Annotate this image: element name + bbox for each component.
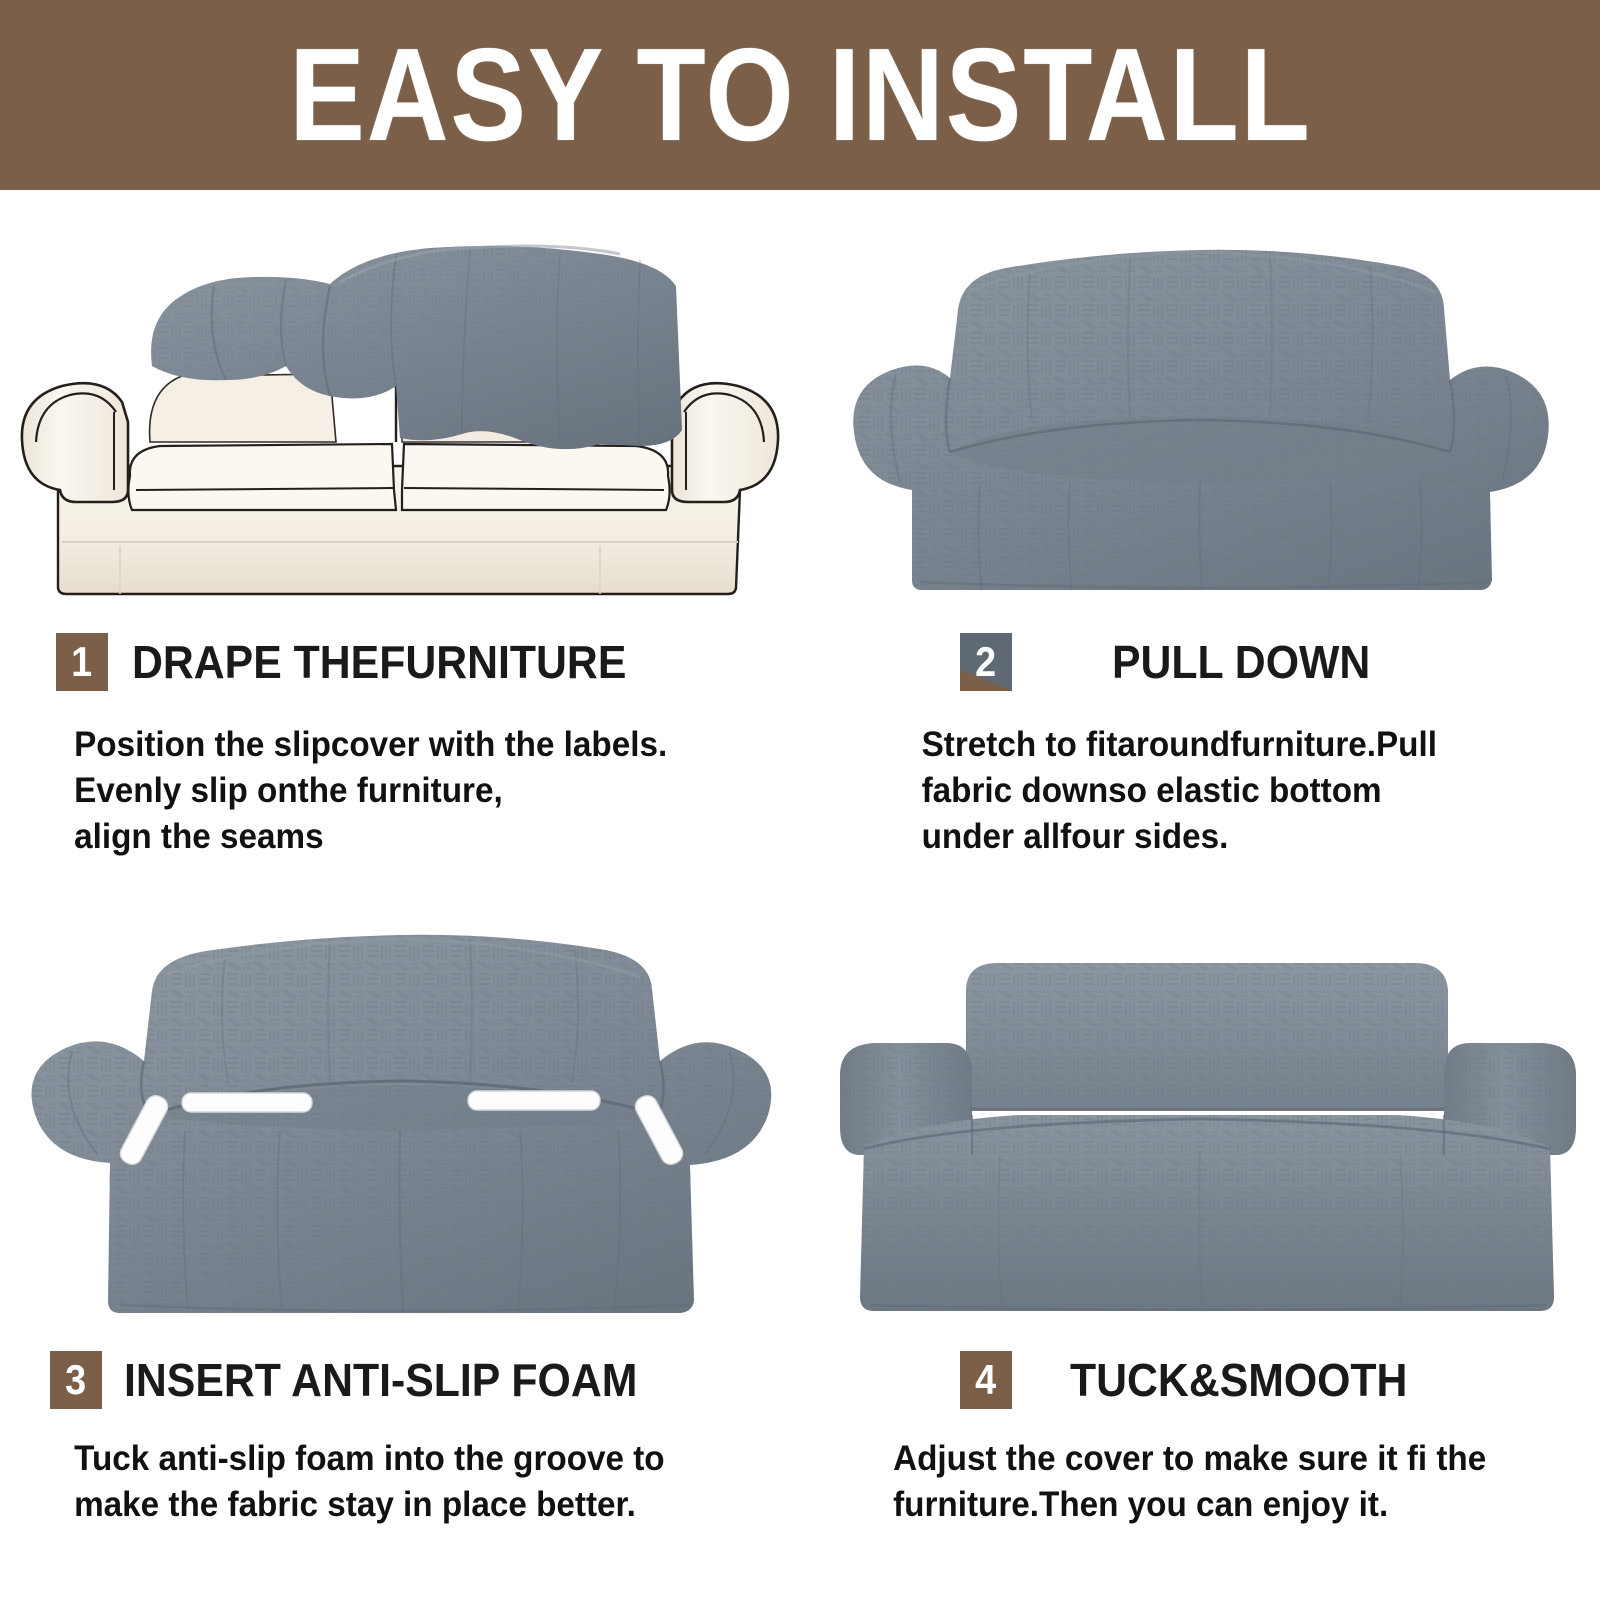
header-banner: EASY TO INSTALL xyxy=(0,0,1600,190)
step-2-title: PULL DOWN xyxy=(1112,639,1370,685)
step-card-1: 1 DRAPE THEFURNITURE Position the slipco… xyxy=(0,190,800,895)
step-4-title: TUCK&SMOOTH xyxy=(1070,1357,1407,1403)
step-4-caption: 4 TUCK&SMOOTH Adjust the cover to make s… xyxy=(800,1350,1600,1528)
step-3-badge: 3 xyxy=(50,1351,102,1409)
step-1-heading: 1 DRAPE THEFURNITURE xyxy=(0,632,800,692)
step-1-figure xyxy=(0,190,800,630)
step-2-badge: 2 xyxy=(960,633,1012,691)
sofa-finished-smooth-illustration xyxy=(800,915,1600,1340)
sofa-draped-with-cover-illustration xyxy=(0,190,800,630)
step-1-caption: 1 DRAPE THEFURNITURE Position the slipco… xyxy=(0,632,800,861)
sofa-with-foam-strips-illustration xyxy=(0,915,800,1340)
step-3-caption: 3 INSERT ANTI-SLIP FOAM Tuck anti-slip f… xyxy=(0,1350,800,1528)
step-4-heading: 4 TUCK&SMOOTH xyxy=(800,1350,1600,1410)
step-card-3: 3 INSERT ANTI-SLIP FOAM Tuck anti-slip f… xyxy=(0,895,800,1600)
step-1-number: 1 xyxy=(71,641,92,683)
step-1-title: DRAPE THEFURNITURE xyxy=(132,639,626,685)
step-2-figure xyxy=(800,190,1600,630)
step-3-description: Tuck anti-slip foam into the groove to m… xyxy=(0,1410,760,1528)
step-3-number: 3 xyxy=(65,1359,86,1401)
step-card-2: 2 PULL DOWN Stretch to fitaroundfurnitur… xyxy=(800,190,1600,895)
step-4-badge: 4 xyxy=(960,1351,1012,1409)
step-card-4: 4 TUCK&SMOOTH Adjust the cover to make s… xyxy=(800,895,1600,1600)
step-1-badge: 1 xyxy=(56,633,108,691)
step-2-number: 2 xyxy=(975,641,996,683)
page-title: EASY TO INSTALL xyxy=(289,29,1311,161)
step-1-description: Position the slipcover with the labels. … xyxy=(0,692,760,861)
steps-grid: 1 DRAPE THEFURNITURE Position the slipco… xyxy=(0,190,1600,1600)
step-2-caption: 2 PULL DOWN Stretch to fitaroundfurnitur… xyxy=(800,632,1600,861)
step-4-figure xyxy=(800,915,1600,1340)
step-2-heading: 2 PULL DOWN xyxy=(800,632,1600,692)
sofa-covered-loose-illustration xyxy=(800,190,1600,630)
step-3-heading: 3 INSERT ANTI-SLIP FOAM xyxy=(0,1350,800,1410)
step-4-description: Adjust the cover to make sure it fi the … xyxy=(800,1410,1560,1528)
foam-strip-center-right xyxy=(468,1091,600,1110)
foam-strip-center-left xyxy=(182,1093,312,1112)
step-4-number: 4 xyxy=(975,1359,996,1401)
step-2-description: Stretch to fitaroundfurniture.Pull fabri… xyxy=(800,692,1560,861)
step-3-title: INSERT ANTI-SLIP FOAM xyxy=(124,1357,637,1403)
step-3-figure xyxy=(0,915,800,1340)
